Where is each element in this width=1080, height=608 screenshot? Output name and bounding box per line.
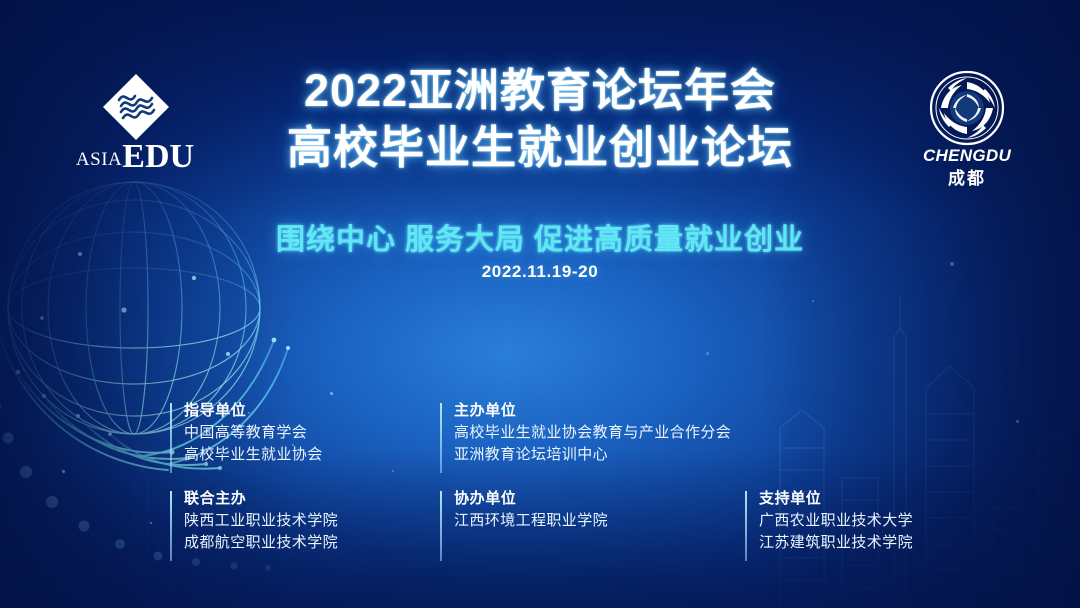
- org-item: 江苏建筑职业技术学院: [759, 532, 913, 554]
- org-block-support: 支持单位 广西农业职业技术大学 江苏建筑职业技术学院: [745, 488, 913, 558]
- org-block-title: 指导单位: [184, 400, 323, 422]
- org-item: 高校毕业生就业协会: [184, 444, 323, 466]
- org-block-host: 主办单位 高校毕业生就业协会教育与产业合作分会 亚洲教育论坛培训中心: [440, 400, 731, 470]
- poster-date: 2022.11.19-20: [0, 262, 1080, 282]
- org-item: 成都航空职业技术学院: [184, 532, 338, 554]
- org-item: 高校毕业生就业协会教育与产业合作分会: [454, 422, 731, 444]
- org-block-rule: [170, 491, 172, 561]
- org-block-rule: [745, 491, 747, 561]
- org-block-guidance: 指导单位 中国高等教育学会 高校毕业生就业协会: [170, 400, 323, 470]
- org-item: 陕西工业职业技术学院: [184, 510, 338, 532]
- org-block-rule: [440, 403, 442, 473]
- poster-title-line-2: 高校毕业生就业创业论坛: [0, 119, 1080, 176]
- organization-list: 指导单位 中国高等教育学会 高校毕业生就业协会 主办单位 高校毕业生就业协会教育…: [0, 398, 1080, 573]
- org-block-rule: [170, 403, 172, 473]
- poster-subtitle: 围绕中心 服务大局 促进高质量就业创业: [0, 216, 1080, 258]
- org-item: 亚洲教育论坛培训中心: [454, 444, 731, 466]
- org-block-title: 主办单位: [454, 400, 731, 422]
- org-item: 广西农业职业技术大学: [759, 510, 913, 532]
- poster-title-line-1: 2022亚洲教育论坛年会: [0, 62, 1080, 119]
- conference-poster: ASIAEDU: [0, 0, 1080, 608]
- poster-title: 2022亚洲教育论坛年会 高校毕业生就业创业论坛: [0, 62, 1080, 176]
- org-block-title: 支持单位: [759, 488, 913, 510]
- org-block-rule: [440, 491, 442, 561]
- org-block-title: 联合主办: [184, 488, 338, 510]
- org-item: 江西环境工程职业学院: [454, 510, 608, 532]
- org-item: 中国高等教育学会: [184, 422, 323, 444]
- org-block-organizer: 协办单位 江西环境工程职业学院: [440, 488, 608, 558]
- org-block-title: 协办单位: [454, 488, 608, 510]
- org-block-co-host: 联合主办 陕西工业职业技术学院 成都航空职业技术学院: [170, 488, 338, 558]
